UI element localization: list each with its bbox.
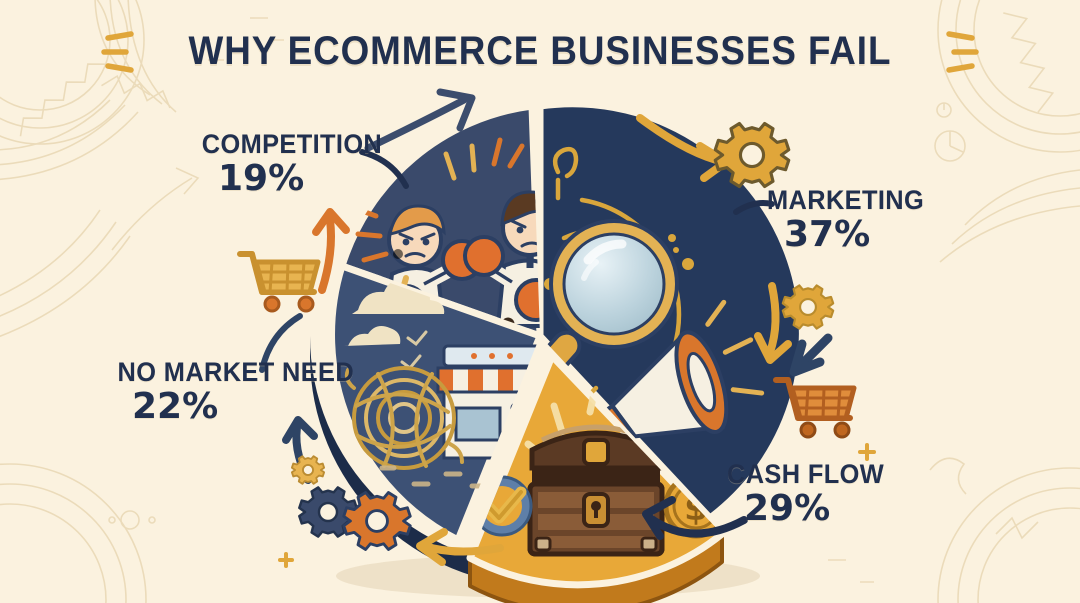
callout-marketing-percent: 37% xyxy=(762,216,929,254)
arrow-down-gold-right-icon xyxy=(758,286,788,360)
arrow-down-left-navy-icon xyxy=(794,338,828,372)
callout-cash-flow-label: CASH FLOW xyxy=(727,460,884,488)
shopping-cart-orange-icon xyxy=(776,380,854,437)
decoration-layer xyxy=(0,0,1080,603)
callout-marketing: MARKETING 37% xyxy=(762,186,929,254)
callout-competition-percent: 19% xyxy=(196,160,388,198)
callout-marketing-label: MARKETING xyxy=(767,186,924,214)
infographic-canvas: WHY ECOMMERCE BUSINESSES FAIL xyxy=(0,0,1080,603)
callout-no-market-need-label: NO MARKET NEED xyxy=(118,358,355,386)
callout-no-market-need: NO MARKET NEED 22% xyxy=(110,358,362,426)
gear-gold-right-icon xyxy=(783,285,833,328)
callout-no-market-need-percent: 22% xyxy=(110,388,362,426)
callout-cash-flow: CASH FLOW 29% xyxy=(722,460,889,528)
gear-gold-top-right-icon xyxy=(715,124,789,187)
arrow-curve-gold-top-icon xyxy=(640,118,726,178)
shopping-cart-gold-icon xyxy=(240,254,318,311)
arrow-left-gold-bottom-icon xyxy=(420,532,500,562)
arrow-up-orange-icon xyxy=(316,212,346,290)
callout-competition-label: COMPETITION xyxy=(202,130,382,158)
callout-cash-flow-percent: 29% xyxy=(722,490,889,528)
callout-competition: COMPETITION 19% xyxy=(196,130,388,198)
